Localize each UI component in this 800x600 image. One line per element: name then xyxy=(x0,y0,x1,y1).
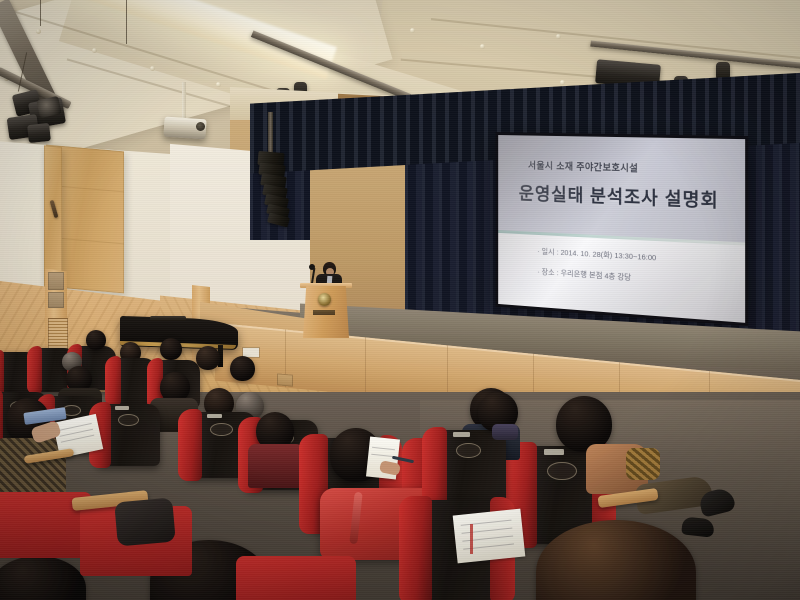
auditorium-photo: 서울시 소재 주야간보호시설 운영실태 분석조사 설명회 · 일시 : 2014… xyxy=(0,0,800,600)
projector-lens-icon xyxy=(196,122,205,131)
truss-wire xyxy=(40,0,41,26)
ceiling-bolt xyxy=(36,29,41,34)
audience-body-maroon xyxy=(248,444,304,488)
ceiling-bolt xyxy=(410,28,415,33)
ceiling-bolt xyxy=(556,34,561,39)
seat-cushion[interactable] xyxy=(236,556,356,600)
projected-slide: 서울시 소재 주야간보호시설 운영실태 분석조사 설명회 · 일시 : 2014… xyxy=(498,135,745,323)
ceiling-bolt xyxy=(216,82,221,87)
audience-head xyxy=(230,356,255,381)
audience-scarf xyxy=(492,424,518,440)
apron-vent-panel xyxy=(277,373,293,386)
audience-head xyxy=(86,330,106,350)
acoustic-diffuser xyxy=(48,272,64,290)
seat-back-dark xyxy=(114,498,176,547)
piano-lid-prop xyxy=(150,316,186,321)
audience-patterned-top xyxy=(626,448,660,480)
ceiling-bolt xyxy=(560,80,565,85)
handout-accent xyxy=(470,524,473,554)
audience-body-patterned xyxy=(0,438,66,498)
ceiling-bolt xyxy=(480,44,485,49)
seat[interactable] xyxy=(96,404,160,466)
ceiling-bolt xyxy=(150,66,155,71)
podium-emblem-icon xyxy=(318,293,331,306)
audience-head xyxy=(196,346,220,370)
microphone-icon xyxy=(309,264,315,270)
acoustic-diffuser xyxy=(48,292,64,308)
audience-head xyxy=(160,338,182,360)
truss-wire xyxy=(126,0,127,44)
ceiling-bolt xyxy=(92,48,97,53)
podium-nameplate xyxy=(313,310,335,315)
projector-mount-pole xyxy=(182,82,186,120)
printed-handout xyxy=(453,509,526,564)
stage-light-icon xyxy=(27,123,51,143)
projection-screen: 서울시 소재 주야간보호시설 운영실태 분석조사 설명회 · 일시 : 2014… xyxy=(496,132,749,326)
